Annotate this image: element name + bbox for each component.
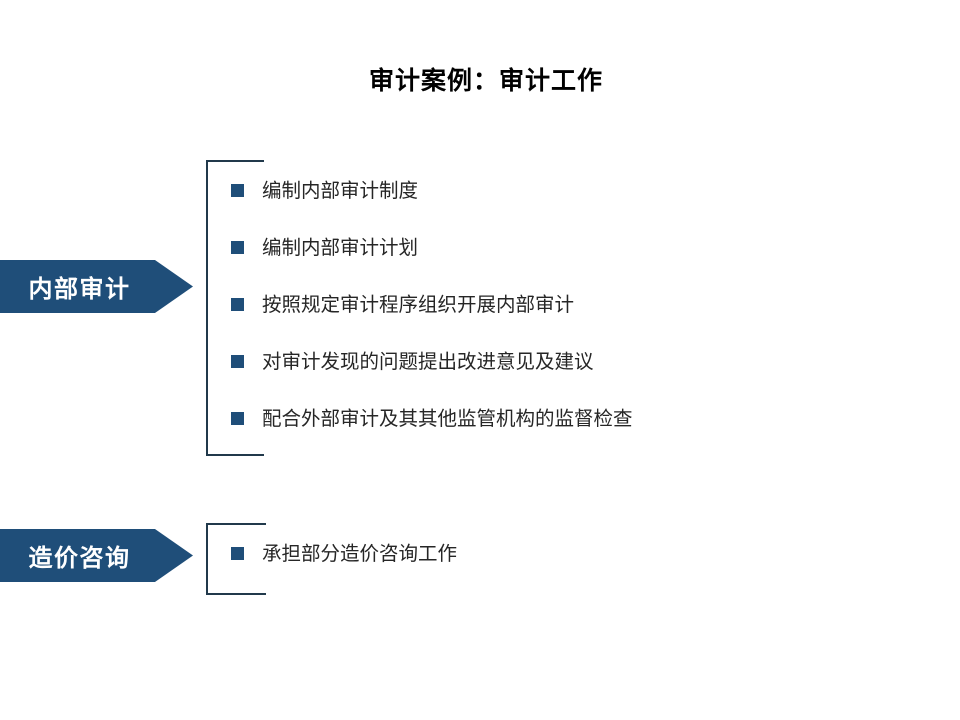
section-banner-label: 内部审计 [29, 269, 131, 304]
list-item-label: 承担部分造价咨询工作 [262, 540, 457, 567]
bullet-list-internal-audit: 编制内部审计制度 编制内部审计计划 按照规定审计程序组织开展内部审计 对审计发现… [231, 177, 931, 462]
list-item: 按照规定审计程序组织开展内部审计 [231, 291, 931, 348]
section-banner-internal-audit: 内部审计 [0, 260, 193, 313]
list-item: 编制内部审计计划 [231, 234, 931, 291]
list-item-label: 编制内部审计制度 [262, 177, 418, 204]
list-item: 编制内部审计制度 [231, 177, 931, 234]
list-item-label: 配合外部审计及其其他监管机构的监督检查 [262, 405, 633, 432]
page-title: 审计案例：审计工作 [0, 66, 960, 98]
list-item-label: 对审计发现的问题提出改进意见及建议 [262, 348, 594, 375]
section-banner-cost-consulting: 造价咨询 [0, 529, 193, 582]
bullet-list-cost-consulting: 承担部分造价咨询工作 [231, 540, 931, 567]
list-item: 对审计发现的问题提出改进意见及建议 [231, 348, 931, 405]
square-bullet-icon [231, 184, 244, 197]
list-item: 承担部分造价咨询工作 [231, 540, 931, 567]
list-item-label: 编制内部审计计划 [262, 234, 418, 261]
square-bullet-icon [231, 241, 244, 254]
square-bullet-icon [231, 547, 244, 560]
list-item: 配合外部审计及其其他监管机构的监督检查 [231, 405, 931, 462]
list-item-label: 按照规定审计程序组织开展内部审计 [262, 291, 574, 318]
slide-canvas: 审计案例：审计工作 内部审计 编制内部审计制度 编制内部审计计划 按照规定审计程… [0, 0, 960, 720]
section-banner-label: 造价咨询 [29, 538, 131, 573]
square-bullet-icon [231, 298, 244, 311]
square-bullet-icon [231, 355, 244, 368]
square-bullet-icon [231, 412, 244, 425]
